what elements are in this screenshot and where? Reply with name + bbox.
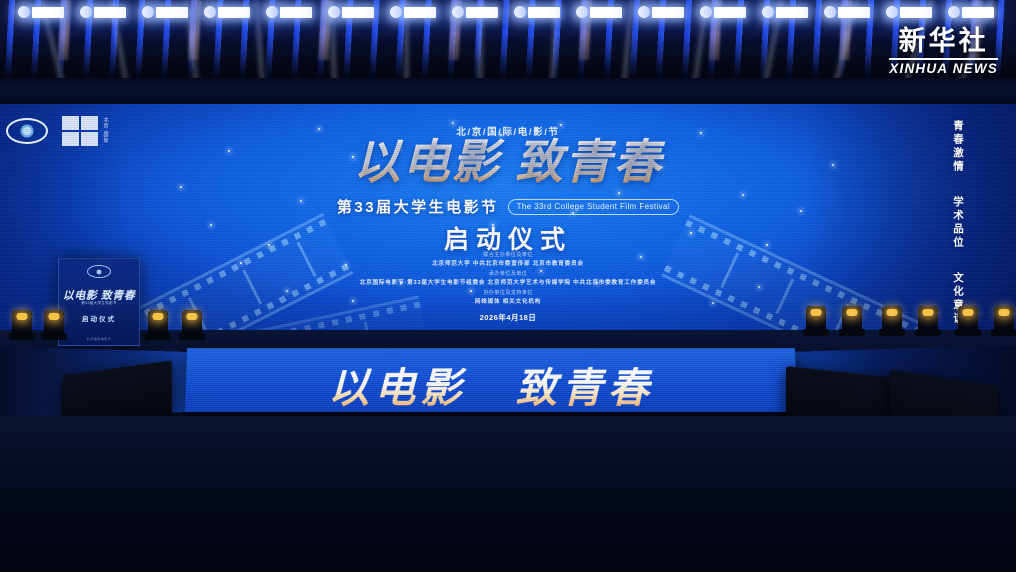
- xinhua-news-watermark: 新华社 XINHUA NEWS: [889, 28, 998, 75]
- truss-light: [762, 6, 808, 18]
- screen-text-block: 北/京/国/际/电/影/节 以电影 致青春 第33届大学生电影节 The 33r…: [0, 104, 1016, 342]
- truss-light-bulb: [886, 6, 898, 18]
- truss-light-bulb: [390, 6, 402, 18]
- podium-ceremony-label: 启动仪式: [59, 313, 139, 323]
- support-organizations: 网络媒体 相关文化机构: [0, 300, 1016, 306]
- truss-light: [266, 6, 312, 18]
- stage-ceremony-photo: 北京·国际 青春激情 学术品位 文化意识 北/京/国/际/电/影/节 以电影 致…: [0, 0, 1016, 572]
- truss-light-bulb: [762, 6, 774, 18]
- podium: 以电影 致青春 第33届大学生电影节 启动仪式 北京国际电影节: [58, 258, 140, 346]
- moving-head-light: [44, 310, 64, 336]
- moving-head-lens: [49, 313, 60, 320]
- moving-head-base: [179, 333, 205, 340]
- truss-light-bar-lamp: [404, 7, 436, 18]
- truss-light-bulb: [948, 6, 960, 18]
- moving-head-light: [182, 310, 202, 336]
- truss-light: [452, 6, 498, 18]
- truss-light-bar-lamp: [776, 7, 808, 18]
- moving-head-light: [12, 310, 32, 336]
- moving-head-light: [994, 306, 1014, 332]
- truss-light: [80, 6, 126, 18]
- truss-light-bar-lamp: [156, 7, 188, 18]
- truss-light-bar-lamp: [714, 7, 746, 18]
- front-led-banner: 以电影 致青春: [185, 348, 797, 412]
- truss-light: [576, 6, 622, 18]
- moving-head-lens: [153, 313, 164, 320]
- watermark-chinese: 新华社: [889, 28, 998, 55]
- truss-light-bar-lamp: [342, 7, 374, 18]
- truss-light-bulb: [700, 6, 712, 18]
- moving-head-lens: [847, 309, 858, 316]
- truss-light-bar-lamp: [280, 7, 312, 18]
- moving-head-base: [41, 333, 67, 340]
- truss-light-bulb: [142, 6, 154, 18]
- moving-head-base: [839, 329, 865, 336]
- truss-light-bar-lamp: [32, 7, 64, 18]
- moving-head-base: [991, 329, 1016, 336]
- moving-head-light: [882, 306, 902, 332]
- organizer-label: 承办单位及单位: [0, 272, 1016, 277]
- truss-light-bulb: [514, 6, 526, 18]
- stage-apron-foreground: [0, 416, 1016, 572]
- moving-head-lens: [17, 313, 28, 320]
- subtitle-chinese: 第33届大学生电影节: [337, 196, 499, 217]
- truss-light: [948, 6, 994, 18]
- truss-light-bar-lamp: [962, 7, 994, 18]
- ceremony-title: 启动仪式: [0, 220, 1016, 256]
- watermark-english: XINHUA NEWS: [889, 62, 998, 76]
- truss-light-bar-lamp: [528, 7, 560, 18]
- podium-footer: 北京国际电影节: [59, 337, 139, 341]
- truss-light-bar-lamp: [466, 7, 498, 18]
- moving-head-light: [842, 306, 862, 332]
- moving-head-lens: [187, 313, 198, 320]
- podium-eye-icon: [87, 265, 111, 278]
- truss-light-bulb: [266, 6, 278, 18]
- subtitle-english-pill: The 33rd College Student Film Festival: [508, 199, 680, 215]
- podium-subtitle: 第33届大学生电影节: [59, 301, 139, 306]
- moving-head-light: [806, 306, 826, 332]
- truss-light: [886, 6, 932, 18]
- moving-head-base: [879, 329, 905, 336]
- truss-light-bulb: [824, 6, 836, 18]
- moving-head-base: [915, 329, 941, 336]
- subtitle-row: 第33届大学生电影节 The 33rd College Student Film…: [0, 196, 1016, 217]
- truss-light: [328, 6, 374, 18]
- moving-head-base: [803, 329, 829, 336]
- truss-light: [204, 6, 250, 18]
- sponsor-organizations: 北京师范大学 中共北京市委宣传部 北京市教育委员会: [0, 262, 1016, 268]
- truss-light-bulb: [638, 6, 650, 18]
- watermark-rule: [889, 58, 998, 60]
- truss-light: [514, 6, 560, 18]
- sponsor-label: 联合主办单位及单位: [0, 253, 1016, 258]
- truss-light-bar-lamp: [94, 7, 126, 18]
- moving-head-lens: [999, 309, 1010, 316]
- main-title: 以电影 致青春: [0, 137, 1016, 186]
- moving-head-lens: [887, 309, 898, 316]
- truss-light-bulb: [328, 6, 340, 18]
- truss-light: [142, 6, 188, 18]
- front-banner-text: 以电影 致青春: [185, 354, 797, 412]
- moving-head-lens: [923, 309, 934, 316]
- truss-light-bar-lamp: [218, 7, 250, 18]
- moving-head-base: [9, 333, 35, 340]
- truss-light: [18, 6, 64, 18]
- organizer-organizations: 北京国际电影节·第33届大学生电影节组委会 北京师范大学艺术与传媒学院 中共北京…: [0, 281, 1016, 287]
- moving-head-lens: [811, 309, 822, 316]
- truss-light: [824, 6, 870, 18]
- truss-light-bar-lamp: [900, 7, 932, 18]
- truss-light-bar-lamp: [652, 7, 684, 18]
- led-backdrop-screen: 北京·国际 青春激情 学术品位 文化意识 北/京/国/际/电/影/节 以电影 致…: [0, 104, 1016, 342]
- truss-light-bulb: [18, 6, 30, 18]
- truss-light-bulb: [204, 6, 216, 18]
- truss-light-bar-lamp: [838, 7, 870, 18]
- moving-head-base: [145, 333, 171, 340]
- truss-light-bulb: [576, 6, 588, 18]
- moving-head-lens: [963, 309, 974, 316]
- truss-light: [390, 6, 436, 18]
- truss-light-bulb: [452, 6, 464, 18]
- support-label: 协办单位及支持单位: [0, 291, 1016, 296]
- truss-light: [638, 6, 684, 18]
- truss-light-bulb: [80, 6, 92, 18]
- moving-head-base: [955, 329, 981, 336]
- moving-head-light: [918, 306, 938, 332]
- truss-light: [700, 6, 746, 18]
- truss-light-bar-lamp: [590, 7, 622, 18]
- moving-head-light: [958, 306, 978, 332]
- moving-head-light: [148, 310, 168, 336]
